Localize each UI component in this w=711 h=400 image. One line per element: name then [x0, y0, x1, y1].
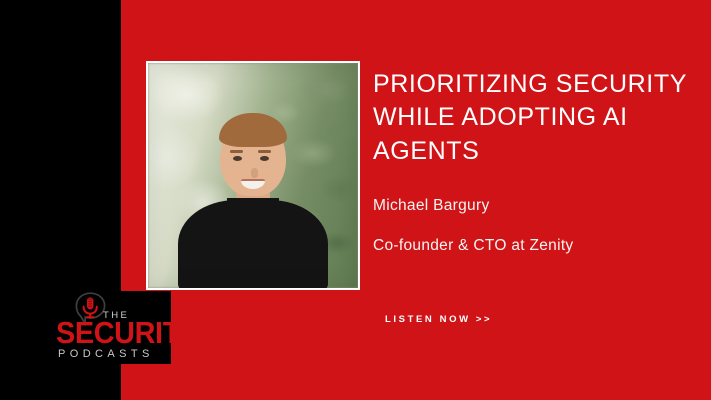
page-title: PRIORITIZING SECURITY WHILE ADOPTING AI … [373, 68, 693, 168]
speaker-name: Michael Bargury [373, 197, 490, 215]
logo-podcasts-text: PODCASTS [58, 348, 154, 360]
podcast-promo-slide: PRIORITIZING SECURITY WHILE ADOPTING AI … [0, 0, 711, 400]
speaker-role: Co-founder & CTO at Zenity [373, 237, 573, 255]
logo-security-text: SECURITY [56, 317, 199, 348]
speaker-photo [148, 63, 358, 288]
podcast-logo[interactable]: THE SECURITY PODCASTS [0, 291, 171, 364]
listen-now-button[interactable]: LISTEN NOW >> [385, 314, 492, 325]
speaker-photo-frame [146, 61, 360, 290]
photo-vignette [148, 63, 358, 288]
